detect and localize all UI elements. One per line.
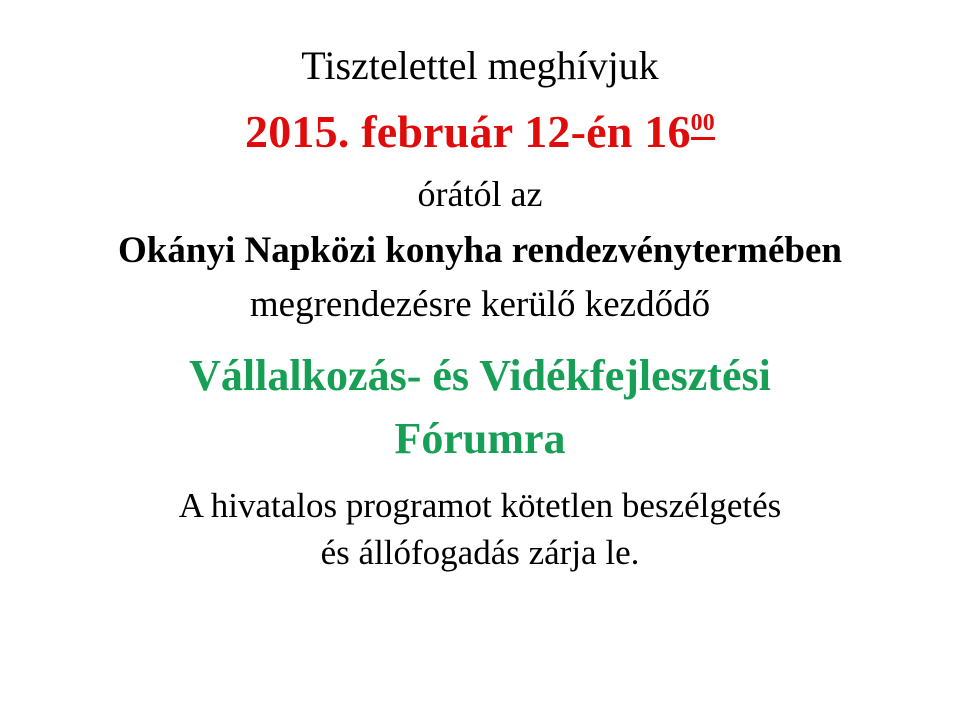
- forum-title-line-2: Fórumra: [18, 417, 942, 462]
- forum-title-line-1: Vállalkozás- és Vidékfejlesztési: [18, 354, 942, 399]
- event-time-suffix-line: órától az: [18, 176, 942, 213]
- event-time-minutes-superscript: 00: [691, 112, 715, 140]
- invitation-greeting-line: Tisztelettel meghívjuk: [18, 46, 942, 87]
- event-held-line: megrendezésre kerülő kezdődő: [18, 286, 942, 324]
- event-date-line: 2015. február 12-én 1600: [18, 109, 942, 156]
- event-venue-line: Okányi Napközi konyha rendezvénytermében: [18, 232, 942, 270]
- superscript-underline: [691, 137, 715, 140]
- event-time-minutes-text: 00: [691, 110, 715, 136]
- event-date-text: 2015. február 12-én 16: [245, 106, 691, 157]
- closing-note-line-1: A hivatalos programot kötetlen beszélget…: [18, 488, 942, 524]
- closing-note-line-2: és állófogadás zárja le.: [18, 535, 942, 571]
- invitation-slide: Tisztelettel meghívjuk 2015. február 12-…: [0, 0, 960, 720]
